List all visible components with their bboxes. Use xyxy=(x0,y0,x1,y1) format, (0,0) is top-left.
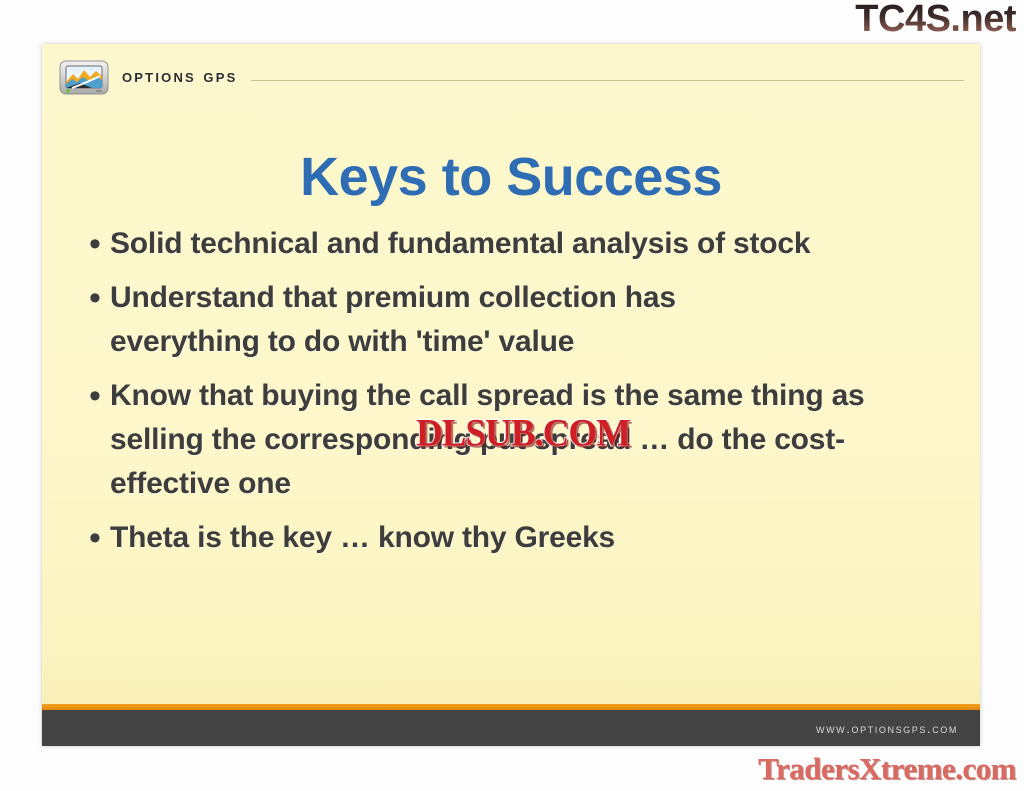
list-item: • Solid technical and fundamental analys… xyxy=(80,222,960,266)
list-item-text: Theta is the key … know thy Greeks xyxy=(110,516,960,560)
bullet-point-icon: • xyxy=(80,276,110,320)
watermark-dlsub: DLSUB.COM xyxy=(416,411,630,456)
bullet-point-icon: • xyxy=(80,516,110,560)
page-title: Keys to Success xyxy=(42,146,980,208)
gps-navigation-device-icon xyxy=(58,58,110,98)
list-item-text: Understand that premium collection has e… xyxy=(110,276,810,364)
slide-footer: www.OptionsGPS.com xyxy=(42,710,980,746)
bullet-list: • Solid technical and fundamental analys… xyxy=(80,222,960,570)
bullet-point-icon: • xyxy=(80,222,110,266)
page-canvas: TC4S.net xyxy=(0,0,1024,791)
footer-website-url: www.OptionsGPS.com xyxy=(816,721,980,736)
list-item-text: Solid technical and fundamental analysis… xyxy=(110,222,870,266)
list-item: • Theta is the key … know thy Greeks xyxy=(80,516,960,560)
list-item: • Understand that premium collection has… xyxy=(80,276,960,364)
brand-title: Options GPS xyxy=(122,66,237,90)
presentation-slide: Options GPS Keys to Success • Solid tech… xyxy=(42,44,980,746)
slide-brand-header: Options GPS xyxy=(58,54,964,102)
bullet-point-icon: • xyxy=(80,374,110,418)
watermark-tc4s: TC4S.net xyxy=(855,0,1016,41)
brand-divider-rule xyxy=(251,80,964,81)
watermark-tradersxtreme: TradersXtreme.com xyxy=(758,751,1016,787)
